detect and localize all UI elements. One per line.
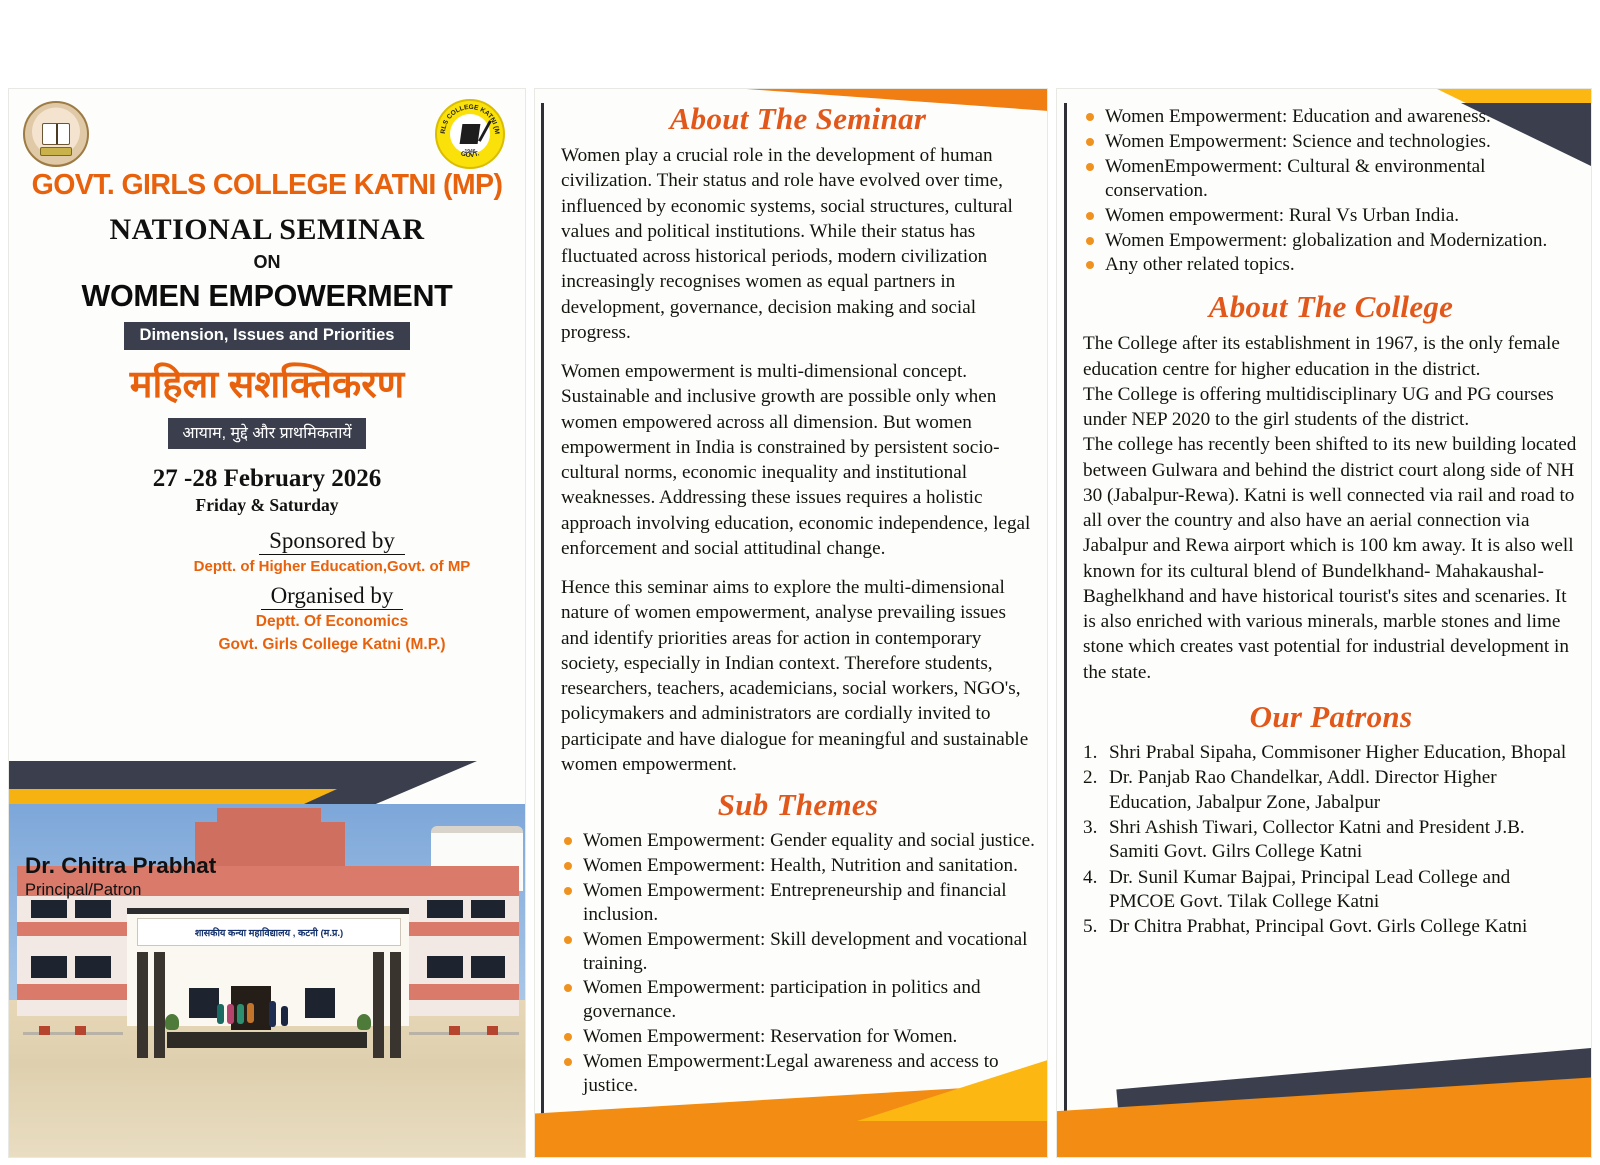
list-item: Women Empowerment: Skill development and… <box>561 928 1035 976</box>
national-seminar-title: NATIONAL SEMINAR <box>23 213 511 247</box>
sub-themes-list: Women Empowerment: Gender equality and s… <box>561 829 1035 1098</box>
middle-content: About The Seminar Women play a crucial r… <box>535 89 1047 1098</box>
seminar-topic: WOMEN EMPOWERMENT <box>23 279 511 314</box>
principal-role: Principal/Patron <box>25 881 216 900</box>
sub-themes-heading: Sub Themes <box>561 787 1035 823</box>
seminar-days: Friday & Saturday <box>23 495 511 516</box>
about-seminar-para-1: Women play a crucial role in the develop… <box>561 143 1035 345</box>
list-item: Women Empowerment: Entrepreneurship and … <box>561 879 1035 927</box>
seminar-title-hindi: महिला सशक्तिकरण <box>23 364 511 408</box>
building-sign-text: शासकीय कन्या महाविद्यालय , कटनी (म.प्र.) <box>195 926 343 939</box>
list-item: Women Empowerment: Education and awarene… <box>1083 105 1579 129</box>
list-item: Any other related topics. <box>1083 253 1579 277</box>
list-item: Dr. Sunil Kumar Bajpai, Principal Lead C… <box>1083 866 1579 915</box>
girls-college-katni-seal-icon: GIRLS COLLEGE KATNI (MP) GOVT. 1946 <box>435 99 505 169</box>
seminar-subtitle-en: Dimension, Issues and Priorities <box>124 322 411 350</box>
sub-themes-continued-list: Women Empowerment: Education and awarene… <box>1083 105 1579 277</box>
sponsor-block: Sponsored by Deptt. of Higher Education,… <box>23 528 511 657</box>
seal-year: 1946 <box>464 149 475 155</box>
college-name: GOVT. GIRLS COLLEGE KATNI (MP) <box>23 171 511 201</box>
list-item: Women Empowerment: Reservation for Women… <box>561 1025 1035 1049</box>
organised-by-college: Govt. Girls College Katni (M.P.) <box>153 633 511 656</box>
sponsored-by-label: Sponsored by <box>259 528 405 555</box>
list-item: Women Empowerment: Science and technolog… <box>1083 130 1579 154</box>
about-college-para-1: The College after its establishment in 1… <box>1083 331 1579 382</box>
left-panel: GIRLS COLLEGE KATNI (MP) GOVT. 1946 GOVT… <box>8 88 526 1158</box>
on-label: ON <box>23 252 511 273</box>
patrons-list: Shri Prabal Sipaha, Commisoner Higher Ed… <box>1083 741 1579 940</box>
list-item: Shri Ashish Tiwari, Collector Katni and … <box>1083 816 1579 865</box>
brochure-page: GIRLS COLLEGE KATNI (MP) GOVT. 1946 GOVT… <box>0 0 1600 1165</box>
list-item: Women empowerment: Rural Vs Urban India. <box>1083 204 1579 228</box>
principal-name: Dr. Chitra Prabhat <box>25 853 216 879</box>
seminar-subtitle-hindi: आयाम, मुद्दे और प्राथमिकतायें <box>168 418 365 449</box>
college-emblem-left-icon <box>23 101 89 167</box>
logo-row: GIRLS COLLEGE KATNI (MP) GOVT. 1946 <box>9 89 525 167</box>
organised-by-dept: Deptt. Of Economics <box>153 610 511 633</box>
right-content: Women Empowerment: Education and awarene… <box>1057 89 1591 940</box>
right-panel: Women Empowerment: Education and awarene… <box>1056 88 1592 1158</box>
about-college-heading: About The College <box>1083 289 1579 325</box>
list-item: Women Empowerment: globalization and Mod… <box>1083 229 1579 253</box>
organised-by-label: Organised by <box>261 583 404 610</box>
list-item: WomenEmpowerment: Cultural & environment… <box>1083 155 1579 203</box>
about-seminar-para-2: Women empowerment is multi-dimensional c… <box>561 359 1035 561</box>
seminar-dates: 27 -28 February 2026 <box>23 465 511 493</box>
list-item: Women Empowerment: Gender equality and s… <box>561 829 1035 853</box>
about-seminar-heading: About The Seminar <box>561 101 1035 137</box>
about-college-para-2: The College is offering multidisciplinar… <box>1083 382 1579 433</box>
list-item: Shri Prabal Sipaha, Commisoner Higher Ed… <box>1083 741 1579 765</box>
list-item: Women Empowerment:Legal awareness and ac… <box>561 1050 1035 1098</box>
our-patrons-heading: Our Patrons <box>1083 699 1579 735</box>
principal-block: Dr. Chitra Prabhat Principal/Patron <box>25 853 216 900</box>
sponsored-by-value: Deptt. of Higher Education,Govt. of MP <box>153 558 511 575</box>
building-signboard: शासकीय कन्या महाविद्यालय , कटनी (म.प्र.) <box>137 918 401 946</box>
left-panel-body: GOVT. GIRLS COLLEGE KATNI (MP) NATIONAL … <box>9 171 525 657</box>
list-item: Women Empowerment: Health, Nutrition and… <box>561 854 1035 878</box>
about-college-para-3: The college has recently been shifted to… <box>1083 432 1579 685</box>
list-item: Dr Chitra Prabhat, Principal Govt. Girls… <box>1083 915 1579 939</box>
list-item: Women Empowerment: participation in poli… <box>561 976 1035 1024</box>
middle-panel: About The Seminar Women play a crucial r… <box>534 88 1048 1158</box>
about-seminar-para-3: Hence this seminar aims to explore the m… <box>561 575 1035 777</box>
list-item: Dr. Panjab Rao Chandelkar, Addl. Directo… <box>1083 766 1579 815</box>
